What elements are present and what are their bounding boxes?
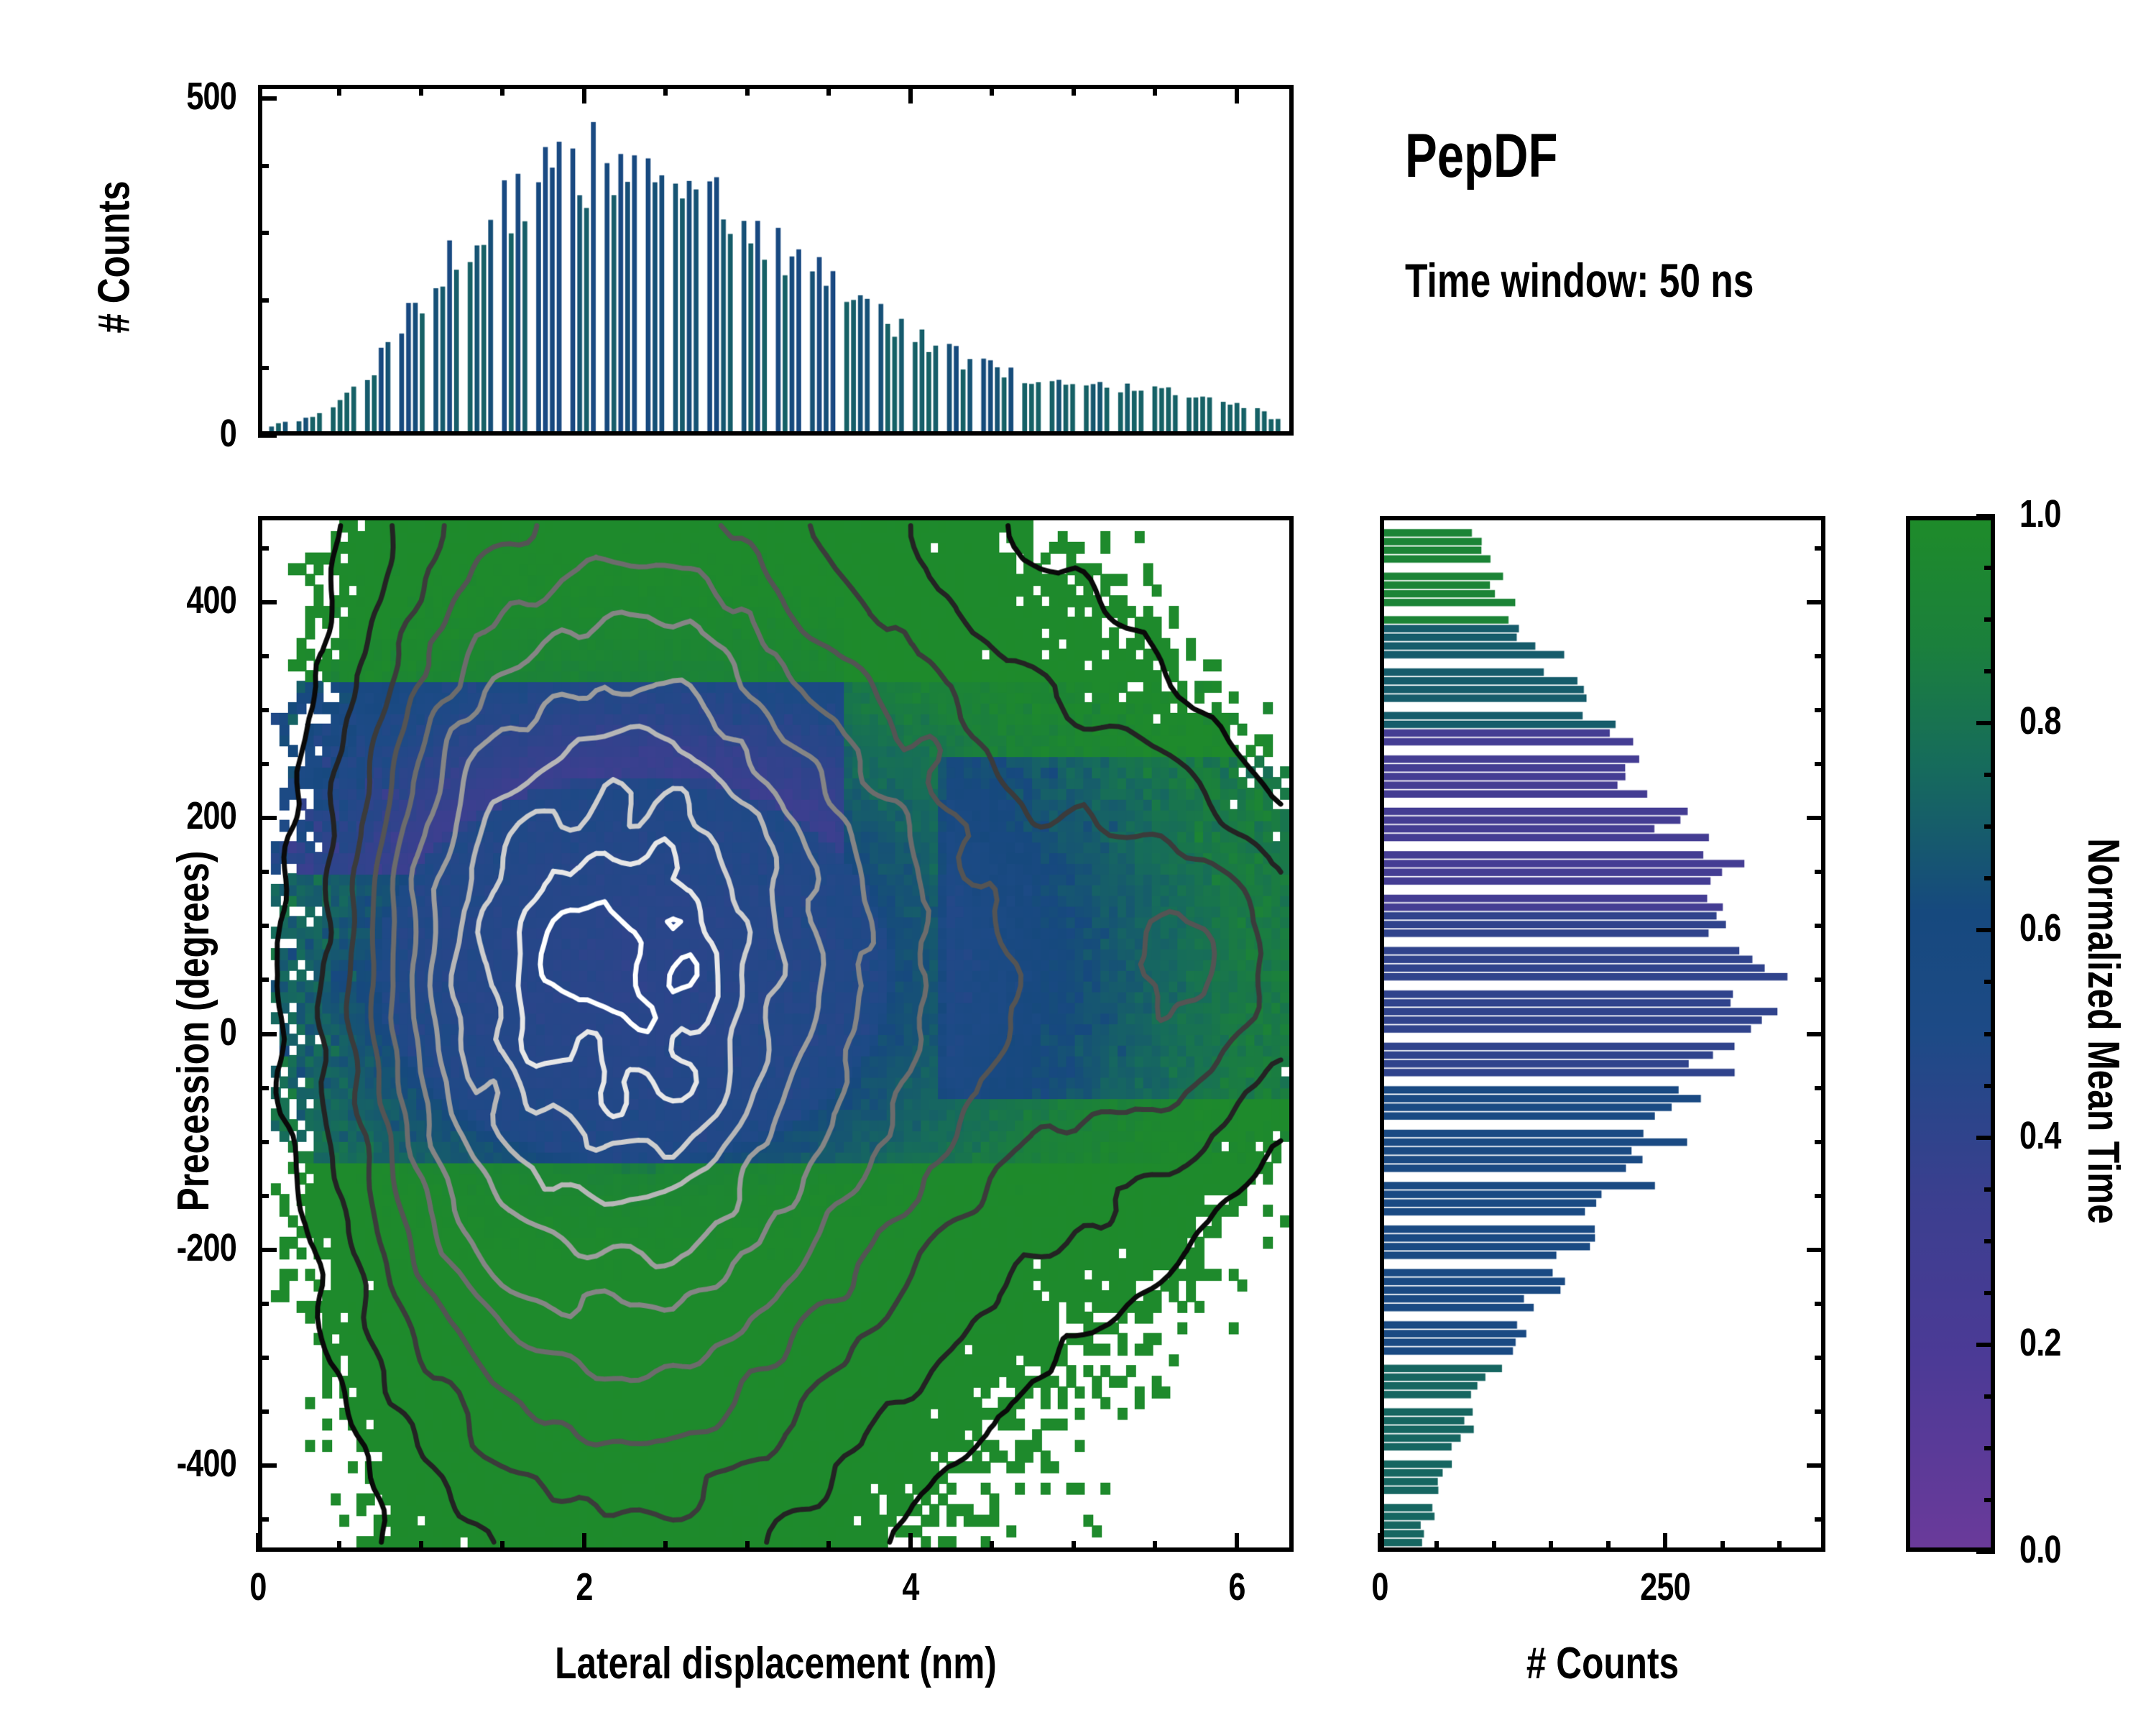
main-xtick-minor [826, 1541, 831, 1552]
main-ytick-minor [258, 1517, 269, 1522]
colorbar-tick-major [1976, 721, 1995, 725]
top-xtick [1153, 85, 1157, 96]
main-xtick-minor [1153, 1541, 1157, 1552]
top-ytick-major [258, 96, 277, 101]
main-xtick-major [256, 1533, 260, 1552]
main-ytick-major [258, 1032, 277, 1036]
main-ytick-minor [258, 870, 269, 874]
colorbar-tick-label: 1.0 [2019, 492, 2061, 536]
colorbar-tick-label: 0.0 [2019, 1527, 2061, 1572]
top-ytick-minor [258, 366, 269, 370]
main-xtick-minor [663, 1541, 668, 1552]
right-ytick [1815, 1302, 1825, 1306]
top-xtick [500, 85, 505, 96]
right-xtick-major [1663, 1533, 1667, 1552]
colorbar-axis-title: Normalized Mean Time [2078, 617, 2129, 1445]
colorbar-tick-major [1976, 514, 1995, 518]
right-xtick-label: 250 [1619, 1565, 1711, 1609]
right-histogram-canvas [1384, 520, 1821, 1547]
colorbar [1906, 516, 1995, 1552]
main-xtick-label: 4 [876, 1565, 945, 1609]
top-marginal-histogram [258, 85, 1294, 436]
top-xtick [337, 85, 341, 96]
right-xtick-label: 0 [1334, 1565, 1426, 1609]
right-ytick [1815, 924, 1825, 928]
main-xtick-label: 2 [550, 1565, 619, 1609]
right-marginal-histogram [1380, 516, 1825, 1552]
main-xtick-label: 6 [1202, 1565, 1271, 1609]
right-xtick-major [1378, 1533, 1382, 1552]
main-ytick-major [258, 600, 277, 604]
colorbar-tick-minor [1984, 1291, 1995, 1295]
main-ytick-minor [258, 708, 269, 712]
colorbar-tick-major [1976, 1343, 1995, 1347]
right-ytick [1815, 1086, 1825, 1090]
colorbar-tick-minor [1984, 669, 1995, 673]
main-xtick-minor [745, 1541, 750, 1552]
top-xtick [419, 85, 423, 96]
top-ytick-label-500: 500 [98, 74, 236, 119]
main-ytick-minor [258, 1409, 269, 1414]
right-x-axis-title: # Counts [1424, 1638, 1781, 1689]
top-ytick-minor [258, 164, 269, 168]
right-ytick [1815, 654, 1825, 658]
main-ytick-major [258, 1248, 277, 1252]
main-ytick-minor [258, 654, 269, 658]
right-ytick [1815, 708, 1825, 712]
top-xtick [908, 85, 913, 103]
main-xtick-major [908, 1533, 913, 1552]
main-ytick-label: 400 [98, 578, 236, 622]
right-ytick [1807, 1248, 1825, 1252]
main-ytick-minor [258, 924, 269, 928]
top-xtick [745, 85, 750, 96]
top-xtick [582, 85, 586, 103]
joint-heatmap-panel [258, 516, 1294, 1552]
colorbar-tick-label: 0.6 [2019, 906, 2061, 950]
colorbar-tick-minor [1984, 1032, 1995, 1036]
colorbar-tick-label: 0.2 [2019, 1320, 2061, 1365]
colorbar-tick-minor [1984, 1394, 1995, 1399]
main-xtick-label: 0 [224, 1565, 292, 1609]
colorbar-tick-minor [1984, 1498, 1995, 1502]
top-xtick [663, 85, 668, 96]
main-xtick-major [1235, 1533, 1239, 1552]
right-ytick [1807, 600, 1825, 604]
colorbar-tick-major [1976, 1136, 1995, 1140]
main-ytick-minor [258, 977, 269, 982]
right-ytick [1815, 1356, 1825, 1360]
top-ytick-major [258, 433, 277, 438]
right-ytick [1815, 1409, 1825, 1414]
colorbar-tick-major [1976, 1550, 1995, 1554]
right-ytick [1807, 816, 1825, 820]
colorbar-tick-minor [1984, 980, 1995, 984]
colorbar-tick-minor [1984, 1084, 1995, 1088]
top-histogram-axis-title: # Counts [89, 116, 140, 397]
main-xtick-minor [990, 1541, 994, 1552]
main-xtick-minor [419, 1541, 423, 1552]
colorbar-tick-minor [1984, 824, 1995, 829]
colorbar-tick-label: 0.4 [2019, 1113, 2061, 1158]
right-ytick [1815, 977, 1825, 982]
main-ytick-major [258, 1463, 277, 1468]
top-histogram-canvas [262, 89, 1289, 431]
right-xtick-minor [1606, 1541, 1611, 1552]
right-xtick-minor [1549, 1541, 1553, 1552]
right-xtick-minor [1492, 1541, 1496, 1552]
colorbar-tick-minor [1984, 1239, 1995, 1243]
main-ytick-minor [258, 1140, 269, 1144]
main-ytick-minor [258, 762, 269, 766]
right-xtick-minor [1720, 1541, 1725, 1552]
main-ytick-minor [258, 1086, 269, 1090]
page-title: PepDF [1405, 121, 1557, 192]
main-xtick-major [582, 1533, 586, 1552]
main-ytick-label: -400 [98, 1441, 236, 1486]
right-ytick [1807, 1463, 1825, 1468]
right-ytick [1815, 870, 1825, 874]
colorbar-tick-minor [1984, 617, 1995, 622]
main-ytick-minor [258, 1194, 269, 1198]
right-ytick [1815, 1517, 1825, 1522]
main-ytick-minor [258, 1356, 269, 1360]
main-ytick-minor [258, 1302, 269, 1306]
top-xtick [826, 85, 831, 96]
main-ytick-minor [258, 546, 269, 551]
colorbar-gradient [1910, 520, 1991, 1547]
top-xtick [1072, 85, 1076, 96]
colorbar-tick-minor [1984, 1446, 1995, 1450]
main-x-axis-title: Lateral displacement (nm) [361, 1638, 1190, 1689]
top-xtick [990, 85, 994, 96]
right-ytick [1815, 1140, 1825, 1144]
main-xtick-minor [337, 1541, 341, 1552]
colorbar-tick-minor [1984, 1187, 1995, 1192]
main-xtick-minor [1072, 1541, 1076, 1552]
right-xtick-minor [1777, 1541, 1782, 1552]
top-xtick [1235, 85, 1239, 103]
colorbar-tick-major [1976, 928, 1995, 932]
right-ytick [1815, 762, 1825, 766]
top-ytick-minor [258, 231, 269, 235]
right-xtick-minor [1434, 1541, 1439, 1552]
top-ytick-minor [258, 298, 269, 303]
time-window-label: Time window: 50 ns [1405, 253, 1754, 308]
right-ytick [1815, 546, 1825, 551]
colorbar-tick-label: 0.8 [2019, 699, 2061, 743]
main-y-axis-title: Precession (degrees) [168, 617, 219, 1445]
top-ytick-label-0: 0 [98, 411, 236, 456]
right-ytick [1807, 1032, 1825, 1036]
main-xtick-minor [500, 1541, 505, 1552]
right-ytick [1815, 1194, 1825, 1198]
colorbar-tick-minor [1984, 876, 1995, 880]
colorbar-tick-minor [1984, 773, 1995, 777]
main-ytick-major [258, 816, 277, 820]
joint-heatmap-canvas [262, 520, 1289, 1547]
colorbar-tick-minor [1984, 566, 1995, 570]
